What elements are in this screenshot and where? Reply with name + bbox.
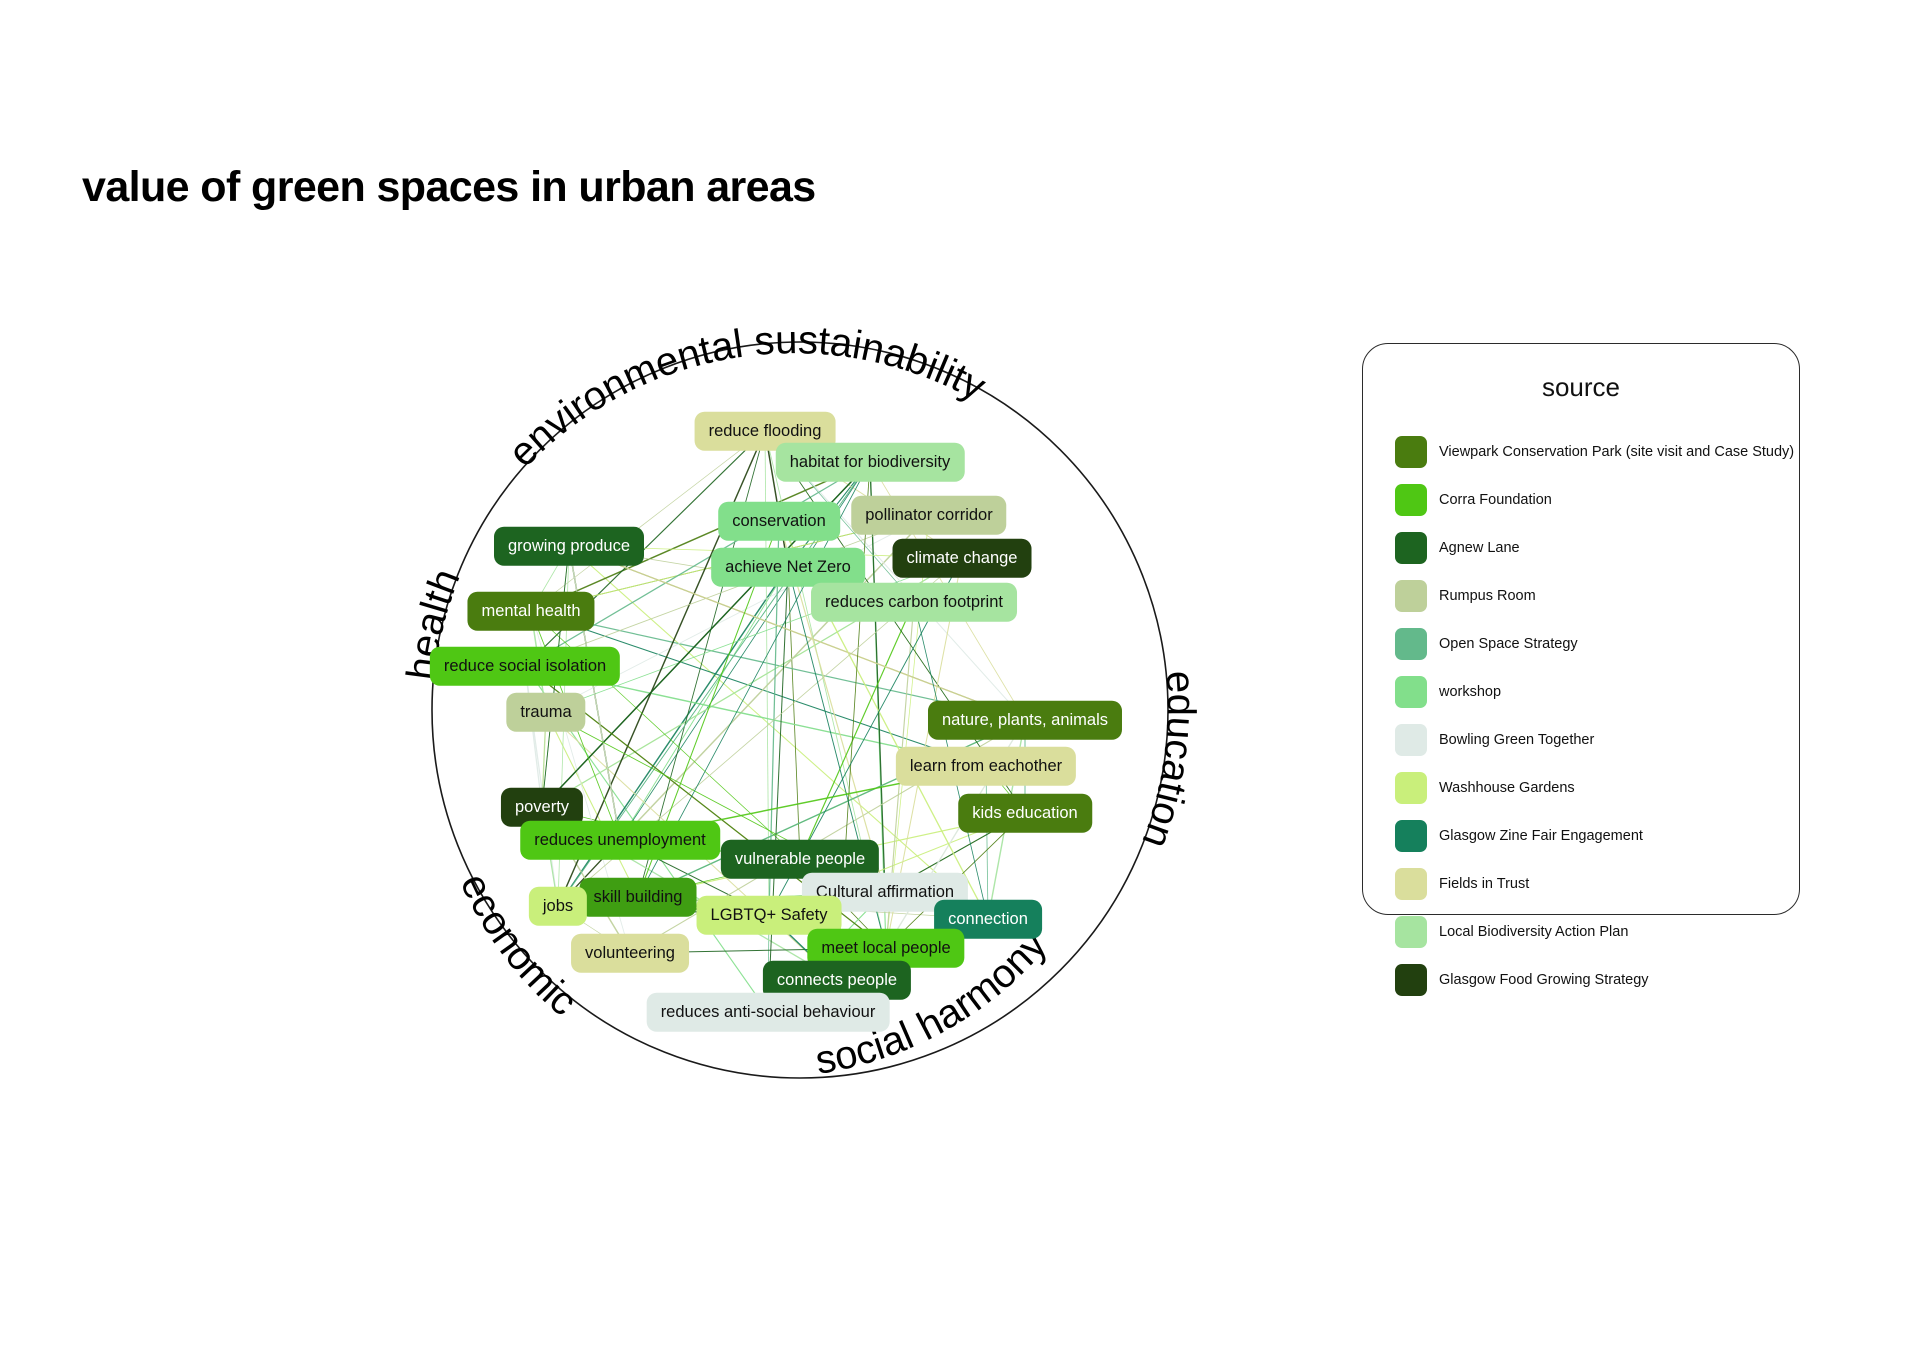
node-pollinator-corridor[interactable]: pollinator corridor: [851, 496, 1006, 535]
node-reduce-social-isolation[interactable]: reduce social isolation: [430, 647, 620, 686]
legend-swatch: [1395, 916, 1427, 948]
legend-swatch: [1395, 820, 1427, 852]
legend-item-label: Open Space Strategy: [1439, 636, 1578, 652]
edge: [531, 611, 986, 766]
legend-item-label: Local Biodiversity Action Plan: [1439, 924, 1628, 940]
page-title: value of green spaces in urban areas: [82, 163, 816, 212]
node-habitat-for-biodiversity[interactable]: habitat for biodiversity: [776, 443, 965, 482]
legend-swatch: [1395, 532, 1427, 564]
legend-swatch: [1395, 964, 1427, 996]
legend-item[interactable]: Rumpus Room: [1395, 572, 1789, 620]
legend-item-label: Rumpus Room: [1439, 588, 1536, 604]
node-climate-change[interactable]: climate change: [893, 539, 1032, 578]
legend-swatch: [1395, 676, 1427, 708]
legend-swatch: [1395, 868, 1427, 900]
legend-swatch: [1395, 772, 1427, 804]
legend-item-label: Fields in Trust: [1439, 876, 1529, 892]
legend-item[interactable]: Glasgow Zine Fair Engagement: [1395, 812, 1789, 860]
legend-title: source: [1363, 372, 1799, 403]
edge: [620, 567, 788, 840]
legend-item[interactable]: Open Space Strategy: [1395, 620, 1789, 668]
node-growing-produce[interactable]: growing produce: [494, 527, 644, 566]
legend-items: Viewpark Conservation Park (site visit a…: [1395, 428, 1789, 1004]
legend-item-label: Glasgow Food Growing Strategy: [1439, 972, 1649, 988]
legend-item-label: workshop: [1439, 684, 1501, 700]
node-volunteering[interactable]: volunteering: [571, 934, 689, 973]
node-kids-education[interactable]: kids education: [958, 794, 1092, 833]
network-diagram: environmental sustainability health econ…: [340, 250, 1260, 1170]
ring-label-education: education: [1133, 669, 1202, 853]
legend-item-label: Bowling Green Together: [1439, 732, 1594, 748]
legend-item[interactable]: Agnew Lane: [1395, 524, 1789, 572]
legend-swatch: [1395, 436, 1427, 468]
legend-item-label: Agnew Lane: [1439, 540, 1520, 556]
edge: [986, 766, 988, 919]
legend-item[interactable]: workshop: [1395, 668, 1789, 716]
legend-item[interactable]: Bowling Green Together: [1395, 716, 1789, 764]
legend-item[interactable]: Corra Foundation: [1395, 476, 1789, 524]
legend-item[interactable]: Fields in Trust: [1395, 860, 1789, 908]
node-reduces-unemployment[interactable]: reduces unemployment: [520, 821, 720, 860]
legend-swatch: [1395, 484, 1427, 516]
edge: [788, 567, 800, 859]
legend-item[interactable]: Viewpark Conservation Park (site visit a…: [1395, 428, 1789, 476]
legend-swatch: [1395, 580, 1427, 612]
legend-item-label: Washhouse Gardens: [1439, 780, 1575, 796]
node-mental-health[interactable]: mental health: [467, 592, 594, 631]
legend-panel: source Viewpark Conservation Park (site …: [1362, 343, 1800, 915]
node-nature-plants-animals[interactable]: nature, plants, animals: [928, 701, 1122, 740]
legend-swatch: [1395, 628, 1427, 660]
legend-item-label: Glasgow Zine Fair Engagement: [1439, 828, 1643, 844]
node-reduces-carbon-footprint[interactable]: reduces carbon footprint: [811, 583, 1017, 622]
legend-item-label: Viewpark Conservation Park (site visit a…: [1439, 444, 1794, 460]
node-trauma[interactable]: trauma: [506, 693, 585, 732]
legend-item[interactable]: Washhouse Gardens: [1395, 764, 1789, 812]
legend-swatch: [1395, 724, 1427, 756]
legend-item[interactable]: Local Biodiversity Action Plan: [1395, 908, 1789, 956]
legend-item-label: Corra Foundation: [1439, 492, 1552, 508]
node-jobs[interactable]: jobs: [529, 887, 587, 926]
node-achieve-net-zero[interactable]: achieve Net Zero: [711, 548, 865, 587]
node-learn-from-eachother[interactable]: learn from eachother: [896, 747, 1076, 786]
node-reduces-anti-social-behaviour[interactable]: reduces anti-social behaviour: [647, 993, 890, 1032]
node-conservation[interactable]: conservation: [718, 502, 840, 541]
node-skill-building[interactable]: skill building: [580, 878, 697, 917]
legend-item[interactable]: Glasgow Food Growing Strategy: [1395, 956, 1789, 1004]
